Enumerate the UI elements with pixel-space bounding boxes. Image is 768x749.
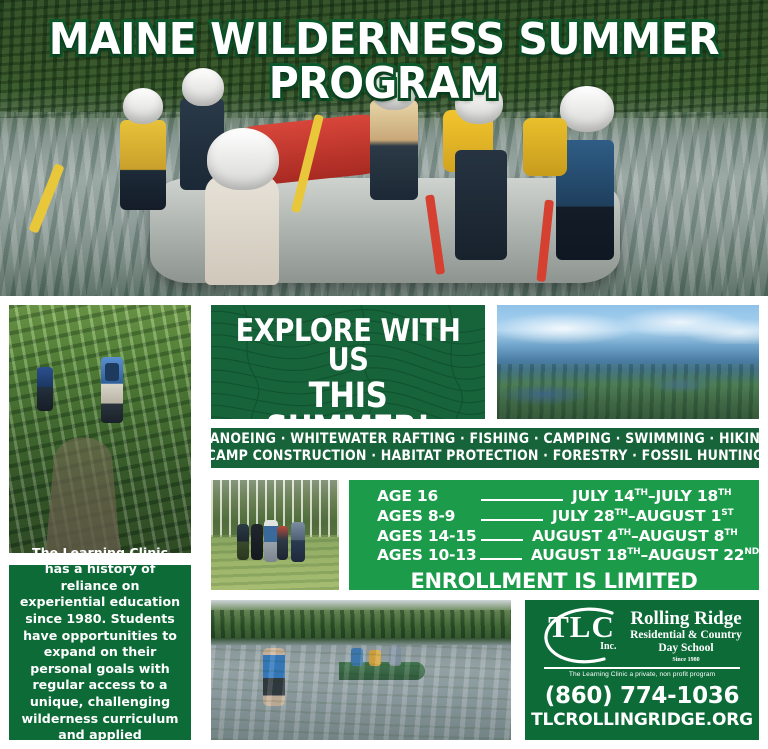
- canoeist-figure: [351, 648, 363, 666]
- hiker-figure: [277, 526, 288, 560]
- schedule-row: AGE 16 JULY 14TH–JULY 18TH: [349, 487, 759, 507]
- enrollment-notice: ENROLLMENT IS LIMITED: [349, 569, 759, 593]
- life-vest: [523, 118, 567, 176]
- canoeist-figure: [369, 650, 381, 666]
- lake-vista-photo: [494, 302, 762, 422]
- page-title: MAINE WILDERNESS SUMMER PROGRAM: [27, 18, 741, 106]
- schedule-row: AGES 14-15 AUGUST 4TH–AUGUST 8TH: [349, 527, 759, 547]
- hiker-figure: [264, 520, 278, 562]
- explore-headline-line2: THIS SUMMER!: [227, 380, 468, 422]
- org-subtitle-1: Residential & Country: [630, 629, 742, 642]
- schedule-dash: [481, 499, 563, 501]
- helmet-icon: [207, 128, 279, 190]
- paddler-figure: [120, 120, 166, 210]
- schedule-dash: [481, 519, 543, 521]
- schedule-panel: AGE 16 JULY 14TH–JULY 18TH AGES 8-9 JULY…: [346, 477, 762, 593]
- hiker-figure: [37, 367, 53, 411]
- paddler-figure: [370, 100, 418, 200]
- explore-panel: EXPLORE WITH US THIS SUMMER!: [208, 302, 488, 422]
- backpack-icon: [105, 363, 119, 381]
- paddler-figure: [455, 150, 507, 260]
- activities-bar: · CANOEING · WHITEWATER RAFTING · FISHIN…: [208, 425, 762, 471]
- phone-number[interactable]: (860) 774-1036: [545, 683, 739, 709]
- hiker-figure: [237, 524, 249, 560]
- schedule-age: AGES 8-9: [377, 507, 481, 527]
- schedule-dash: [481, 539, 523, 541]
- logo-fine-print: The Learning Clinic a private, non profi…: [569, 671, 715, 678]
- forest-trail-photo: [6, 302, 194, 556]
- canoe-shape: [339, 662, 425, 680]
- about-blurb-text: The Learning Clinic has a history of rel…: [18, 545, 182, 749]
- activities-line-2: · CAMP CONSTRUCTION · HABITAT PROTECTION…: [208, 448, 762, 466]
- logo-divider: [544, 667, 740, 669]
- schedule-date: AUGUST 18TH–AUGUST 22ND: [531, 546, 759, 566]
- org-name: Rolling Ridge: [630, 609, 742, 629]
- logo-lockup: TLC Inc. Rolling Ridge Residential & Cou…: [542, 607, 742, 665]
- schedule-date: JULY 14TH–JULY 18TH: [572, 487, 731, 507]
- explore-headline-line1: EXPLORE WITH US: [227, 317, 468, 376]
- org-subtitle-2: Day School: [630, 642, 742, 655]
- hiker-figure: [291, 522, 305, 562]
- tlc-inc-label: Inc.: [600, 641, 616, 652]
- hiker-figure: [251, 524, 263, 560]
- schedule-date: JULY 28TH–AUGUST 1ST: [552, 507, 733, 527]
- org-since: Since 1980: [630, 657, 742, 663]
- tlc-letters: TLC: [548, 611, 615, 642]
- poster-root: MAINE WILDERNESS SUMMER PROGRAM: [0, 0, 768, 749]
- wading-person-figure: [263, 648, 285, 706]
- hero-title-wrap: MAINE WILDERNESS SUMMER PROGRAM: [0, 18, 768, 106]
- logo-wordmark: Rolling Ridge Residential & Country Day …: [630, 609, 742, 662]
- trail-path: [44, 438, 121, 556]
- canoe-lake-photo: [208, 597, 514, 743]
- logo-contact-panel: TLC Inc. Rolling Ridge Residential & Cou…: [522, 597, 762, 743]
- hero-section: MAINE WILDERNESS SUMMER PROGRAM: [0, 0, 768, 296]
- canoeist-figure: [389, 646, 401, 666]
- activities-line-1: · CANOEING · WHITEWATER RAFTING · FISHIN…: [208, 431, 762, 449]
- schedule-age: AGE 16: [377, 487, 481, 507]
- about-blurb-panel: The Learning Clinic has a history of rel…: [6, 562, 194, 743]
- tlc-logo-mark: TLC Inc.: [542, 607, 628, 665]
- schedule-row: AGES 10-13 AUGUST 18TH–AUGUST 22ND: [349, 546, 759, 566]
- paddler-figure: [205, 175, 279, 285]
- schedule-age: AGES 14-15: [377, 527, 481, 547]
- group-hiking-photo: [208, 477, 342, 593]
- schedule-age: AGES 10-13: [377, 546, 480, 566]
- explore-text: EXPLORE WITH US THIS SUMMER!: [211, 317, 485, 422]
- schedule-date: AUGUST 4TH–AUGUST 8TH: [532, 527, 738, 547]
- schedule-dash: [480, 558, 522, 560]
- website-url[interactable]: TLCROLLINGRIDGE.ORG: [531, 710, 753, 730]
- schedule-row: AGES 8-9 JULY 28TH–AUGUST 1ST: [349, 507, 759, 527]
